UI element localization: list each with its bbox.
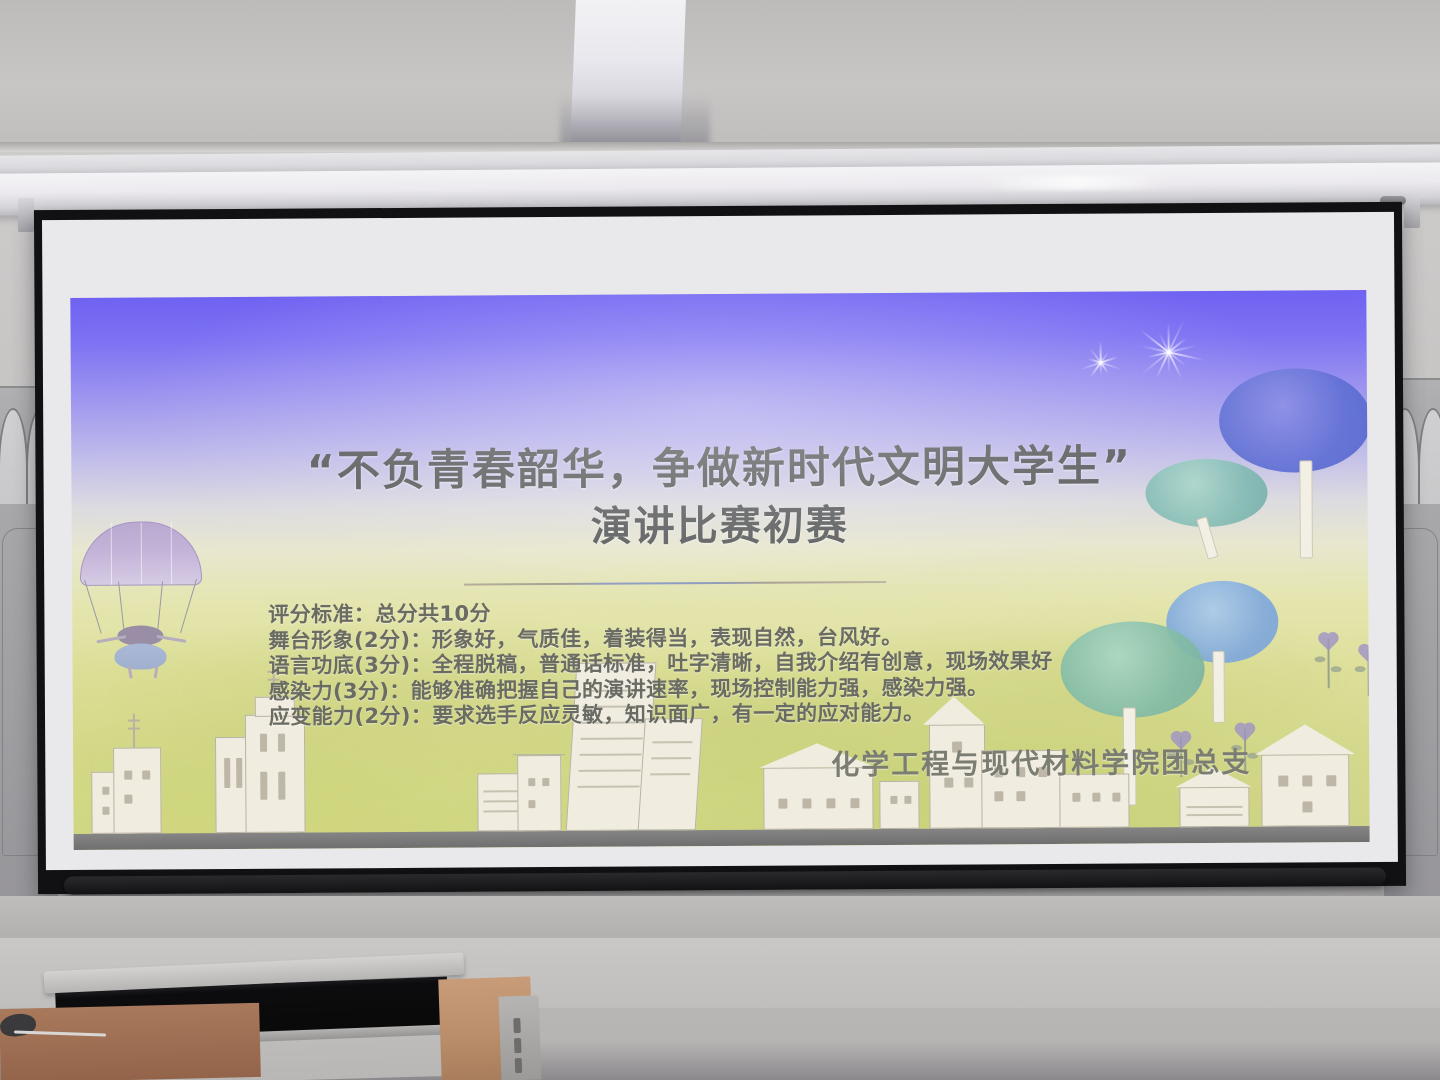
wooden-desk-surface (0, 1003, 261, 1080)
parachute-figure-body (114, 643, 166, 669)
classroom-scene: “不负青春韶华，争做新时代文明大学生” 演讲比赛初赛 评分标准：总分共10分舞台… (0, 0, 1440, 1080)
scoring-criteria-list: 评分标准：总分共10分舞台形象(2分)：形象好，气质佳，着装得当，表现自然，台风… (268, 596, 1329, 730)
ceiling (0, 0, 1440, 152)
slide-subtitle: 演讲比赛初赛 (72, 488, 1368, 556)
antenna-icon (133, 714, 135, 748)
building (879, 781, 919, 829)
screen-bracket-left (18, 198, 34, 232)
screen-bracket-right (1404, 194, 1420, 228)
building (1179, 787, 1249, 827)
podium-side-panel (499, 995, 542, 1080)
lower-wall-band (0, 896, 1440, 940)
heart-topped-plant (1357, 650, 1370, 696)
housing-light-glint (980, 175, 1170, 190)
presentation-slide: “不负青春韶华，争做新时代文明大学生” 演讲比赛初赛 评分标准：总分共10分舞台… (70, 290, 1369, 850)
organization-signature: 化学工程与现代材料学院团总支 (73, 740, 1369, 788)
